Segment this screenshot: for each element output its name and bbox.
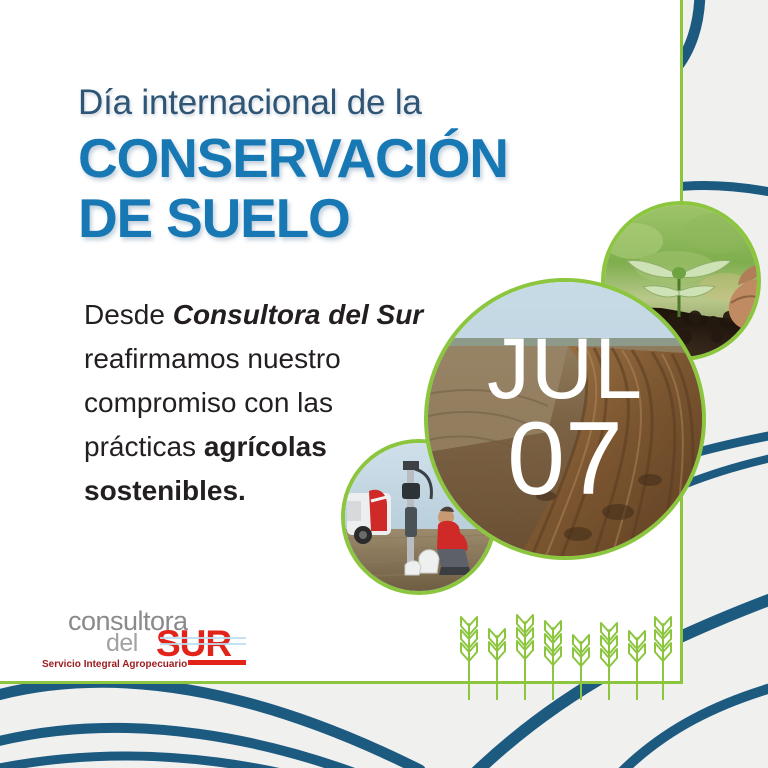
logo-tagline: Servicio Integral Agropecuario: [42, 659, 187, 670]
page-title: Día internacional de la CONSERVACIÓN DE …: [78, 82, 618, 248]
title-line-3: DE SUELO: [78, 188, 618, 248]
poster-canvas: Día internacional de la CONSERVACIÓN DE …: [0, 0, 768, 768]
title-line-2: CONSERVACIÓN: [78, 128, 618, 188]
wheat-stalk-row: [452, 608, 682, 700]
date-badge-photo: [428, 282, 702, 556]
brand-name-emphasis: Consultora del Sur: [173, 299, 423, 330]
title-line-1: Día internacional de la: [78, 82, 618, 124]
body-text-part1: Desde: [84, 299, 173, 330]
logo-word-del: del: [106, 629, 138, 657]
company-logo: consultora del SUR Servicio Integral Agr…: [38, 604, 260, 670]
